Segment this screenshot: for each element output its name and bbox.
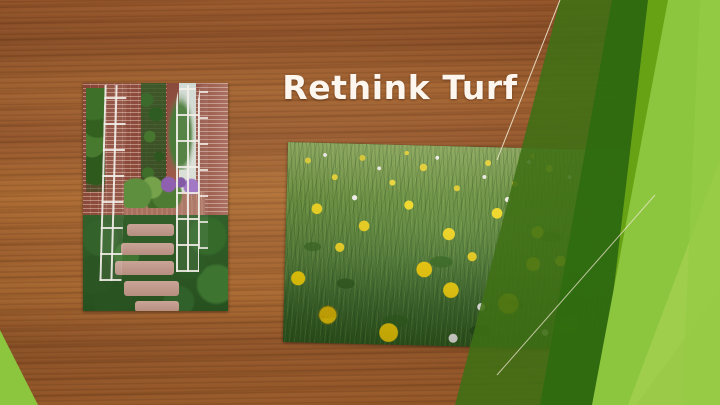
- stepping-stone: [124, 281, 179, 296]
- green-wedge-corner: [0, 330, 38, 405]
- trellis-gate-right: [176, 85, 199, 272]
- presentation-slide: Rethink Turf: [0, 0, 720, 405]
- page-title: Rethink Turf: [250, 70, 550, 107]
- garden-path-photo[interactable]: [83, 83, 228, 311]
- stepping-stone: [115, 261, 174, 275]
- stepping-stone: [121, 243, 175, 256]
- trellis-gate-far-right: [198, 85, 208, 249]
- stepping-stone: [127, 224, 175, 235]
- stepping-stone: [135, 301, 179, 311]
